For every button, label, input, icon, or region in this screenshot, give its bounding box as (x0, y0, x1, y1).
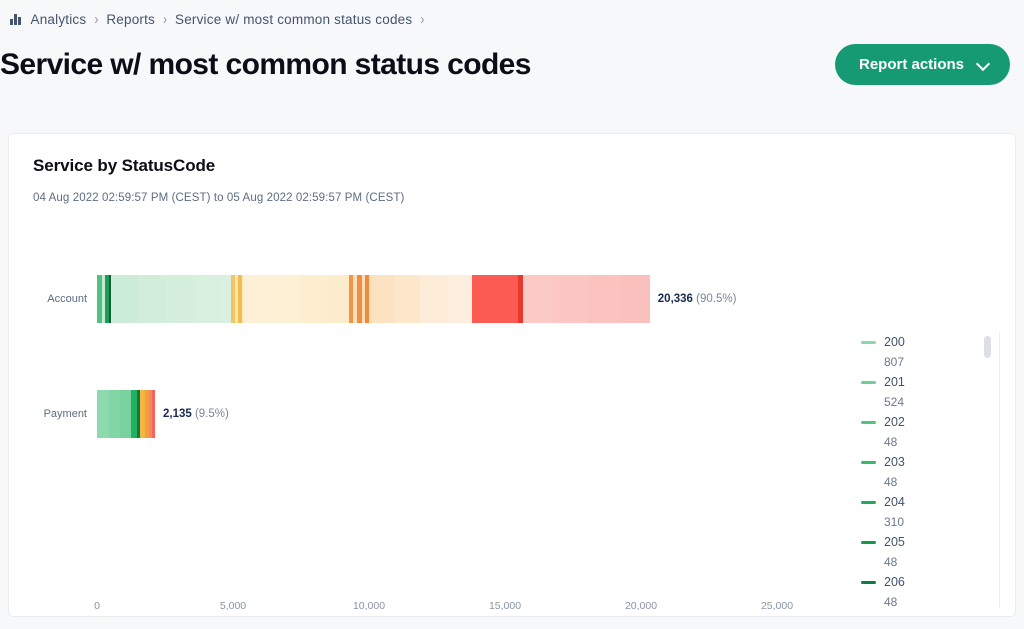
legend-item-206[interactable]: 206 (861, 572, 995, 592)
legend-value: 524 (861, 392, 995, 412)
bar-segment[interactable] (120, 390, 130, 438)
bar-segment[interactable] (420, 275, 448, 323)
legend-value: 807 (861, 352, 995, 372)
bar-segment[interactable] (372, 275, 394, 323)
bar-segment[interactable] (300, 275, 327, 323)
chart-legend: 2008072015242024820348204310205482064820… (853, 332, 1005, 608)
breadcrumb-item-reports[interactable]: Reports (106, 12, 155, 27)
bar-segment[interactable] (97, 390, 109, 438)
breadcrumb-separator: › (94, 10, 98, 28)
report-actions-label: Report actions (859, 56, 964, 73)
card-date-range: 04 Aug 2022 02:59:57 PM (CEST) to 05 Aug… (9, 176, 1015, 204)
bar-chart-icon (10, 13, 21, 25)
stacked-bar-payment[interactable]: 2,135 (9.5%) (97, 390, 155, 438)
legend-value: 310 (861, 512, 995, 532)
legend-list[interactable]: 2008072015242024820348204310205482064820… (861, 332, 995, 608)
legend-swatch-icon (861, 461, 876, 464)
legend-swatch-icon (861, 421, 876, 424)
breadcrumb-item-current[interactable]: Service w/ most common status codes (175, 12, 412, 27)
bar-segment[interactable] (472, 275, 518, 323)
bar-value-label: 2,135 (9.5%) (163, 408, 229, 420)
legend-swatch-icon (861, 381, 876, 384)
legend-label: 203 (884, 455, 905, 469)
legend-item-200[interactable]: 200 (861, 332, 995, 352)
x-axis: 05,00010,00015,00020,00025,000 (97, 600, 777, 617)
chevron-down-icon (978, 58, 990, 70)
legend-item-201[interactable]: 201 (861, 372, 995, 392)
legend-label: 201 (884, 375, 905, 389)
breadcrumb: Analytics › Reports › Service w/ most co… (0, 0, 1024, 28)
breadcrumb-separator: › (163, 10, 167, 28)
bar-segment[interactable] (272, 275, 300, 323)
legend-value: 48 (861, 552, 995, 572)
bar-segment[interactable] (152, 390, 155, 438)
bar-segment[interactable] (327, 275, 349, 323)
legend-item-204[interactable]: 204 (861, 492, 995, 512)
legend-label: 200 (884, 335, 905, 349)
legend-label: 206 (884, 575, 905, 589)
bar-segment[interactable] (523, 275, 553, 323)
x-axis-tick: 20,000 (625, 600, 657, 612)
bar-segment[interactable] (394, 275, 420, 323)
bar-segment[interactable] (166, 275, 195, 323)
legend-value: 48 (861, 592, 995, 608)
category-label-account: Account (47, 293, 87, 305)
legend-label: 202 (884, 415, 905, 429)
bar-segment[interactable] (109, 390, 120, 438)
legend-swatch-icon (861, 341, 876, 344)
chart-area: Account20,336 (90.5%)Payment2,135 (9.5%)… (9, 229, 1015, 616)
card-title: Service by StatusCode (9, 134, 1015, 176)
page-title: Service w/ most common status codes (0, 48, 531, 81)
page-header: Service w/ most common status codes Repo… (0, 28, 1024, 94)
legend-label: 204 (884, 495, 905, 509)
bar-segment[interactable] (195, 275, 221, 323)
legend-swatch-icon (861, 581, 876, 584)
bar-segment[interactable] (221, 275, 231, 323)
legend-swatch-icon (861, 501, 876, 504)
legend-item-203[interactable]: 203 (861, 452, 995, 472)
legend-divider (999, 332, 1000, 608)
bar-segment[interactable] (588, 275, 620, 323)
chart-plot: Account20,336 (90.5%)Payment2,135 (9.5%)… (97, 229, 777, 616)
legend-swatch-icon (861, 541, 876, 544)
x-axis-tick: 10,000 (353, 600, 385, 612)
legend-scrollbar-thumb[interactable] (984, 336, 991, 358)
bar-segment[interactable] (138, 275, 166, 323)
bar-segment[interactable] (553, 275, 587, 323)
legend-value: 48 (861, 472, 995, 492)
breadcrumb-separator: › (420, 10, 424, 28)
bar-segment[interactable] (115, 275, 138, 323)
bar-value-label: 20,336 (90.5%) (658, 293, 737, 305)
x-axis-tick: 15,000 (489, 600, 521, 612)
report-card: Service by StatusCode 04 Aug 2022 02:59:… (8, 133, 1016, 617)
category-label-payment: Payment (44, 408, 87, 420)
breadcrumb-item-analytics[interactable]: Analytics (31, 12, 87, 27)
legend-label: 205 (884, 535, 905, 549)
report-actions-button[interactable]: Report actions (835, 44, 1010, 85)
bar-segment[interactable] (620, 275, 650, 323)
x-axis-tick: 0 (94, 600, 100, 612)
x-axis-tick: 25,000 (761, 600, 793, 612)
legend-item-202[interactable]: 202 (861, 412, 995, 432)
x-axis-tick: 5,000 (220, 600, 246, 612)
legend-item-205[interactable]: 205 (861, 532, 995, 552)
bar-segment[interactable] (245, 275, 271, 323)
bar-segment[interactable] (448, 275, 472, 323)
stacked-bar-account[interactable]: 20,336 (90.5%) (97, 275, 650, 323)
legend-value: 48 (861, 432, 995, 452)
